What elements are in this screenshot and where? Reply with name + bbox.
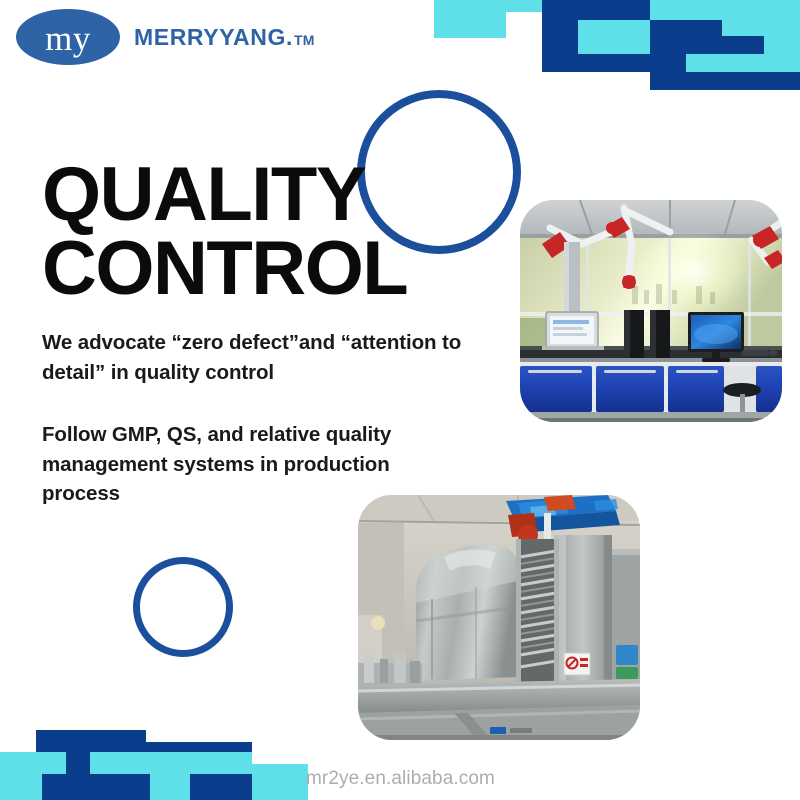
- decor-block: [96, 774, 150, 800]
- decor-block: [722, 36, 764, 54]
- decor-block: [160, 752, 252, 774]
- logo-wordmark: MERRYYANG. TM: [134, 24, 315, 51]
- photo-production-machine: [358, 495, 640, 740]
- page-title-line-1: QUALITY: [42, 158, 462, 232]
- decor-block: [434, 0, 508, 38]
- marketing-banner: my MERRYYANG. TM QUALITY CONTROL We advo…: [0, 0, 800, 800]
- brand-logo: my MERRYYANG. TM: [16, 6, 316, 68]
- decor-block: [764, 36, 800, 54]
- decor-block: [0, 774, 42, 800]
- photo-lab-bench-artwork: [520, 200, 782, 422]
- decor-block: [190, 774, 252, 800]
- decor-block: [650, 72, 800, 90]
- decor-block: [686, 54, 722, 72]
- decor-block: [542, 20, 578, 72]
- page-title-line-2: CONTROL: [42, 232, 462, 306]
- decor-block: [722, 54, 800, 72]
- decor-block: [506, 0, 542, 12]
- decor-block: [42, 774, 96, 800]
- decor-block: [578, 20, 650, 54]
- logo-ellipse-mark: my: [16, 9, 120, 65]
- decor-block: [150, 774, 190, 800]
- decorative-ring-small: [133, 557, 233, 657]
- body-paragraph-1: We advocate “zero defect”and “attention …: [42, 328, 492, 387]
- decor-block: [542, 72, 650, 90]
- photo-production-machine-artwork: [358, 495, 640, 740]
- decor-block: [650, 0, 800, 20]
- decor-block: [650, 20, 722, 54]
- decor-block: [252, 764, 308, 800]
- page-title: QUALITY CONTROL: [42, 158, 462, 307]
- logo-wordmark-text: MERRYYANG.: [134, 24, 293, 51]
- photo-lab-bench: [520, 200, 782, 422]
- logo-mark-text: my: [45, 21, 91, 56]
- watermark-url: mr2ye.en.alibaba.com: [306, 768, 495, 790]
- decor-block: [90, 752, 162, 774]
- decor-block: [578, 54, 686, 72]
- decor-block: [542, 0, 650, 20]
- logo-trademark-text: TM: [294, 32, 315, 48]
- decor-block: [722, 20, 800, 36]
